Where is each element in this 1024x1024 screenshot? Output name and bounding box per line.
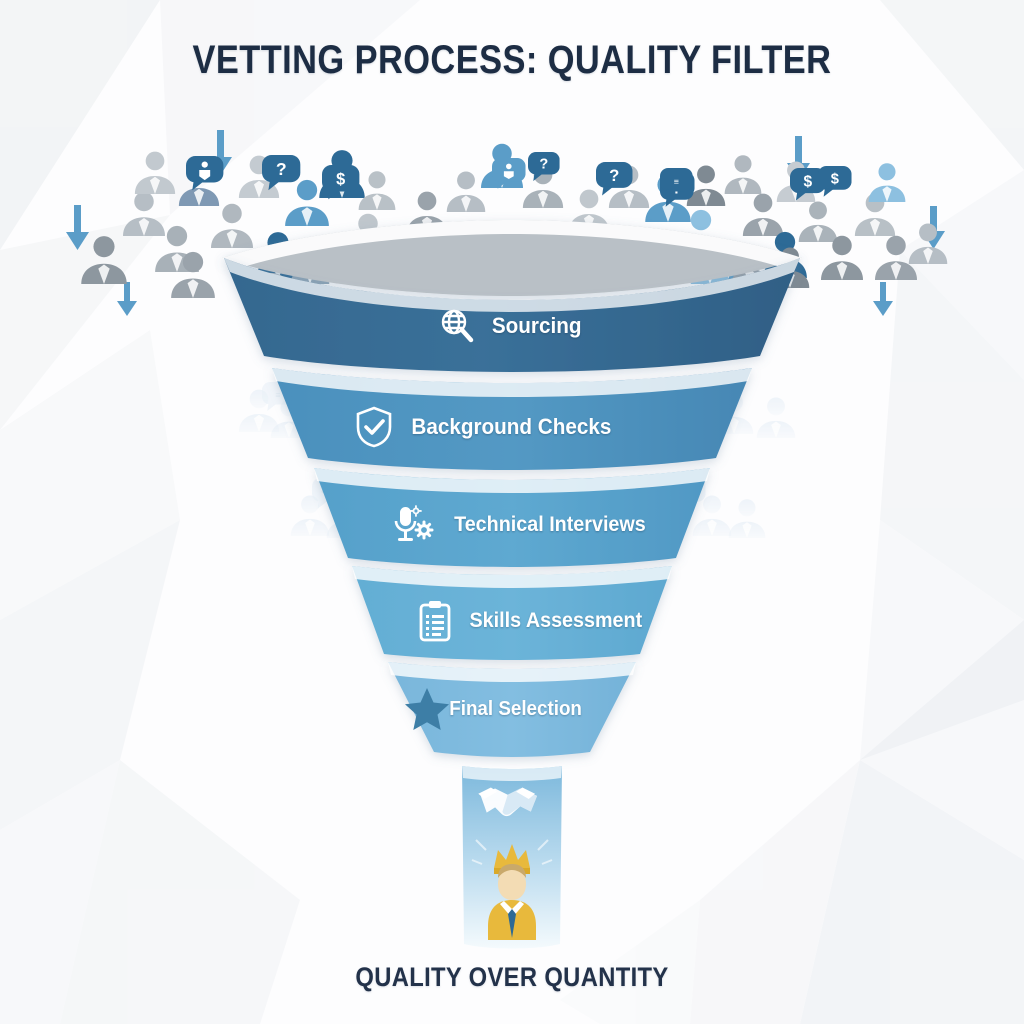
stage-label-text: Sourcing [492,313,582,339]
stage-label-text: Skills Assessment [470,609,643,633]
stage-label-background-checks[interactable]: Background Checks [355,406,618,448]
infographic-canvas: ? ? $ ? ? ? $ $ ≡ [0,0,1024,1024]
page-title: VETTING PROCESS: QUALITY FILTER [72,38,953,83]
clipboard-icon [418,600,452,642]
stage-label-sourcing[interactable]: Sourcing [437,306,584,346]
stage-label-text: Final Selection [449,698,582,721]
stage-label-text: Background Checks [411,414,611,440]
footer-tagline: QUALITY OVER QUANTITY [61,962,962,993]
shield-check-icon [355,406,393,448]
stage-label-skills-assessment[interactable]: Skills Assessment [418,600,648,642]
stage-label-technical-interviews[interactable]: Technical Interviews [392,504,652,546]
microphone-gear-icon [392,504,436,546]
star-icon [404,686,450,737]
stage-label-text: Technical Interviews [454,513,646,537]
stage-label-final-selection[interactable]: Final Selection [445,698,586,721]
globe-search-icon [437,306,477,346]
